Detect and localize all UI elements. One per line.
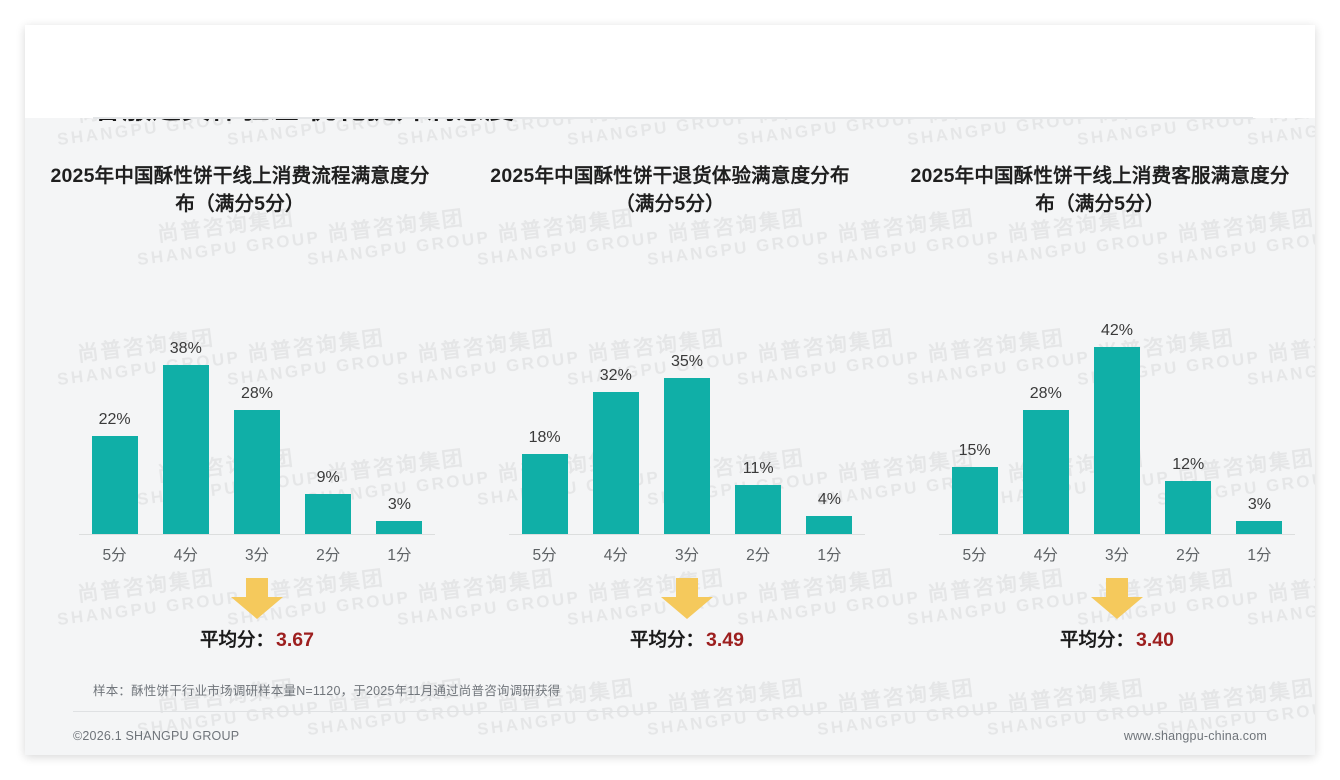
bar-slot: 28% — [221, 263, 292, 534]
bar-slot: 11% — [723, 263, 794, 534]
chart-panel-3: 2025年中国酥性饼干线上消费客服满意度分布（满分5分）15%28%42%12%… — [885, 163, 1315, 673]
x-axis-tick-label: 3分 — [1081, 543, 1152, 565]
bar-value-label: 35% — [671, 353, 703, 371]
x-axis-tick-label: 1分 — [1224, 543, 1295, 565]
chart-panel-2: 2025年中国酥性饼干退货体验满意度分布（满分5分）18%32%35%11%4%… — [455, 163, 885, 673]
bar-value-label: 3% — [388, 496, 411, 514]
bar[interactable] — [1236, 521, 1282, 534]
bar-slot: 28% — [1010, 263, 1081, 534]
average-score-text: 平均分：3.67 — [79, 626, 435, 652]
x-axis-tick-label: 4分 — [150, 543, 221, 565]
bar[interactable] — [1165, 481, 1211, 534]
bar-slot: 4% — [794, 263, 865, 534]
bar[interactable] — [735, 485, 781, 534]
bar[interactable] — [163, 365, 209, 534]
x-axis-labels: 5分4分3分2分1分 — [509, 543, 865, 565]
average-score-value: 3.49 — [706, 629, 744, 651]
bar-slot: 42% — [1081, 263, 1152, 534]
bar-group: 18%32%35%11%4% — [509, 263, 865, 534]
bar-chart: 18%32%35%11%4%5分4分3分2分1分 — [509, 263, 865, 543]
bar[interactable] — [234, 410, 280, 534]
average-score-label: 平均分： — [200, 629, 274, 650]
bar-slot: 18% — [509, 263, 580, 534]
plot-area: 15%28%42%12%3% — [939, 263, 1295, 535]
bar-value-label: 32% — [600, 367, 632, 385]
bar-value-label: 3% — [1248, 496, 1271, 514]
plot-area: 22%38%28%9%3% — [79, 263, 435, 535]
bar-group: 15%28%42%12%3% — [939, 263, 1295, 534]
header-divider — [93, 117, 1253, 119]
bar-value-label: 38% — [170, 340, 202, 358]
bar[interactable] — [806, 516, 852, 534]
bar[interactable] — [376, 521, 422, 534]
bar-slot: 9% — [293, 263, 364, 534]
bar-value-label: 12% — [1172, 456, 1204, 474]
x-axis-tick-label: 2分 — [1153, 543, 1224, 565]
x-axis-tick-label: 3分 — [221, 543, 292, 565]
chart-title: 2025年中国酥性饼干线上消费流程满意度分布（满分5分） — [43, 163, 437, 218]
x-axis-tick-label: 4分 — [1010, 543, 1081, 565]
bar-slot: 38% — [150, 263, 221, 534]
bar-chart: 15%28%42%12%3%5分4分3分2分1分 — [939, 263, 1295, 543]
x-axis-tick-label: 3分 — [651, 543, 722, 565]
bar-slot: 15% — [939, 263, 1010, 534]
x-axis-tick-label: 2分 — [293, 543, 364, 565]
bar-slot: 12% — [1153, 263, 1224, 534]
average-score-label: 平均分： — [630, 629, 704, 650]
chart-title: 2025年中国酥性饼干线上消费客服满意度分布（满分5分） — [903, 163, 1297, 218]
average-score-value: 3.40 — [1136, 629, 1174, 651]
x-axis-tick-label: 5分 — [79, 543, 150, 565]
bar[interactable] — [952, 467, 998, 534]
slide-header — [25, 25, 1315, 118]
bar[interactable] — [593, 392, 639, 534]
average-score-text: 平均分：3.40 — [939, 626, 1295, 652]
chart-panels: 2025年中国酥性饼干线上消费流程满意度分布（满分5分）22%38%28%9%3… — [25, 163, 1315, 673]
x-axis-tick-label: 4分 — [580, 543, 651, 565]
slide-footer: ©2026.1 SHANGPU GROUP www.shangpu-china.… — [73, 719, 1267, 753]
slide: 尚普咨询集团SHANGPU GROUP尚普咨询集团SHANGPU GROUP尚普… — [25, 25, 1315, 755]
x-axis-line — [939, 534, 1295, 535]
bar-slot: 32% — [580, 263, 651, 534]
bar-slot: 22% — [79, 263, 150, 534]
down-arrow-icon — [1089, 578, 1145, 620]
copyright-text: ©2026.1 SHANGPU GROUP — [73, 729, 239, 743]
x-axis-labels: 5分4分3分2分1分 — [939, 543, 1295, 565]
bar[interactable] — [664, 378, 710, 534]
bar-slot: 3% — [1224, 263, 1295, 534]
bar-value-label: 9% — [317, 469, 340, 487]
bar-group: 22%38%28%9%3% — [79, 263, 435, 534]
average-score-label: 平均分： — [1060, 629, 1134, 650]
chart-title: 2025年中国酥性饼干退货体验满意度分布（满分5分） — [473, 163, 867, 218]
bar-value-label: 4% — [818, 491, 841, 509]
x-axis-tick-label: 1分 — [364, 543, 435, 565]
bar-chart: 22%38%28%9%3%5分4分3分2分1分 — [79, 263, 435, 543]
x-axis-tick-label: 5分 — [509, 543, 580, 565]
bar-slot: 3% — [364, 263, 435, 534]
bar-value-label: 11% — [743, 460, 774, 478]
x-axis-tick-label: 2分 — [723, 543, 794, 565]
bar-slot: 35% — [651, 263, 722, 534]
website-link[interactable]: www.shangpu-china.com — [1124, 729, 1267, 743]
x-axis-tick-label: 5分 — [939, 543, 1010, 565]
bar[interactable] — [1023, 410, 1069, 534]
bar-value-label: 22% — [99, 411, 131, 429]
x-axis-line — [509, 534, 865, 535]
average-score-text: 平均分：3.49 — [509, 626, 865, 652]
bar-value-label: 28% — [241, 385, 273, 403]
down-arrow-icon — [229, 578, 285, 620]
bar-value-label: 15% — [959, 442, 991, 460]
x-axis-labels: 5分4分3分2分1分 — [79, 543, 435, 565]
bar[interactable] — [305, 494, 351, 534]
chart-panel-1: 2025年中国酥性饼干线上消费流程满意度分布（满分5分）22%38%28%9%3… — [25, 163, 455, 673]
bar-value-label: 18% — [529, 429, 561, 447]
sample-footnote: 样本：酥性饼干行业市场调研样本量N=1120，于2025年11月通过尚普咨询调研… — [93, 680, 560, 699]
x-axis-line — [79, 534, 435, 535]
bar-value-label: 28% — [1030, 385, 1062, 403]
plot-area: 18%32%35%11%4% — [509, 263, 865, 535]
average-callout: 平均分：3.40 — [939, 578, 1295, 658]
footer-divider — [73, 711, 1269, 712]
average-callout: 平均分：3.49 — [509, 578, 865, 658]
x-axis-tick-label: 1分 — [794, 543, 865, 565]
bar[interactable] — [1094, 347, 1140, 534]
bar[interactable] — [522, 454, 568, 534]
down-arrow-icon — [659, 578, 715, 620]
bar-value-label: 42% — [1101, 322, 1133, 340]
average-callout: 平均分：3.67 — [79, 578, 435, 658]
bar[interactable] — [92, 436, 138, 534]
average-score-value: 3.67 — [276, 629, 314, 651]
